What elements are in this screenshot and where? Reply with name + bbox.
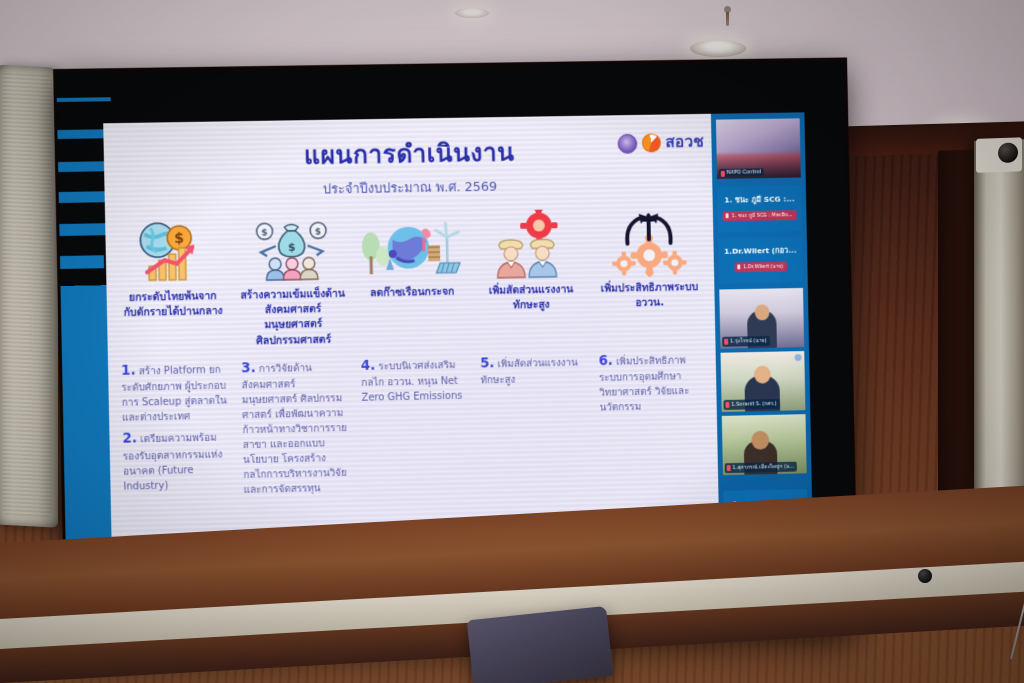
pillar-column-4: 5. เพิ่มสัดส่วนแรงงานทักษะสูง xyxy=(473,351,595,514)
fire-sprinkler-icon xyxy=(724,6,731,13)
pillar-column-3: 4. ระบบนิเวศส่งเสริมกลไก อววน. หนุน Net … xyxy=(354,354,476,517)
money-bag-people-icon: $ $ $ xyxy=(253,217,332,284)
garuda-emblem-icon xyxy=(617,133,637,153)
item-text: สร้าง Platform ยกระดับศักยภาพ ผู้ประกอบก… xyxy=(121,365,227,424)
pillar-heading-3: ลดก๊าซเรือนกระจก xyxy=(352,284,472,347)
svg-text:$: $ xyxy=(175,231,185,247)
gears-upgrade-icon xyxy=(610,209,688,278)
pillar-heading-2: สร้างความเข้มแข็งด้าน สังคมศาสตร์ มนุษยศ… xyxy=(233,287,354,350)
desk-microphone xyxy=(918,569,932,583)
pillar-heading-row: ยกระดับไทยพ้นจาก กับดักรายได้ปานกลาง สร้… xyxy=(113,280,710,352)
svg-text:$: $ xyxy=(315,227,321,237)
participant-badge: 1.Soranit S. (กสว.) xyxy=(723,399,779,410)
item-text: เตรียมความพร้อม รองรับอุตสาหกรรมแห่งอนาค… xyxy=(123,433,223,492)
globe-dollar-growth-icon: $ xyxy=(134,219,209,286)
item-text: เพิ่มสัดส่วนแรงงานทักษะสูง xyxy=(480,358,578,387)
participant-badge: 1.Dr.Wilert (นาย) xyxy=(734,261,787,272)
item-text: การวิจัยด้านสังคมศาสตร์ มนุษยศาสตร์ ศิลป… xyxy=(242,363,347,496)
list-item: 4. ระบบนิเวศส่งเสริมกลไก อววน. หนุน Net … xyxy=(361,354,467,406)
list-item: 2. เตรียมความพร้อม รองรับอุตสาหกรรมแห่งอ… xyxy=(122,427,230,494)
green-earth-renewable-icon xyxy=(356,215,466,283)
pillar-heading-1: ยกระดับไทยพ้นจาก กับดักรายได้ปานกลาง xyxy=(113,289,234,352)
ceiling-light-1 xyxy=(690,40,746,57)
nxpo-swirl-icon xyxy=(642,133,661,152)
pillar-heading-4: เพิ่มสัดส่วนแรงงาน ทักษะสูง xyxy=(472,282,592,345)
participant-badge: 1.สุภาภรณ์ เมืองใหญ่ฯ (ม... xyxy=(725,462,798,473)
icon-cell-3 xyxy=(351,195,472,283)
list-item: 5. เพิ่มสัดส่วนแรงงานทักษะสูง xyxy=(480,351,586,388)
svg-text:$: $ xyxy=(262,228,268,238)
icon-cell-1: $ xyxy=(111,199,233,287)
icon-cell-2: $ $ $ xyxy=(231,197,352,285)
item-number: 2. xyxy=(122,431,137,447)
wall-device-knob xyxy=(998,142,1018,163)
participant-tile-active-speaker[interactable]: 1.Soranit S. (กสว.) xyxy=(721,351,806,412)
participant-tile[interactable]: 1.สุภาภรณ์ เมืองใหญ่ฯ (ม... xyxy=(722,414,807,475)
participant-tile[interactable]: 1. ชนะ ภูมี SCG :... 1. ชนะ ภูมี SCG : M… xyxy=(717,185,802,232)
participant-badge: 1.รุ่งโรจน์ (นาย) xyxy=(722,336,770,347)
item-text: ระบบนิเวศส่งเสริมกลไก อววน. หนุน Net Zer… xyxy=(361,360,462,404)
ceiling-light-3 xyxy=(455,8,489,18)
organization-logo: สอวช xyxy=(617,130,704,156)
pillar-column-1: 1. สร้าง Platform ยกระดับศักยภาพ ผู้ประก… xyxy=(114,359,237,523)
skilled-workers-gear-icon xyxy=(492,209,568,280)
item-number: 5. xyxy=(480,355,495,371)
participant-tile[interactable]: 1.Dr.Wilert (กอว... 1.Dr.Wilert (นาย) xyxy=(718,237,803,284)
wall-speaker xyxy=(0,64,58,527)
list-item: 6. เพิ่มประสิทธิภาพระบบการอุดมศึกษา วิทย… xyxy=(598,349,704,416)
pillar-icon-row: $ $ xyxy=(111,191,709,287)
item-number: 1. xyxy=(121,363,136,379)
laptop-on-desk xyxy=(467,606,614,683)
participant-badge: 1. ชนะ ภูมี SCG : MacBo... xyxy=(723,210,797,221)
list-item: 3. การวิจัยด้านสังคมศาสตร์ มนุษยศาสตร์ ศ… xyxy=(241,356,350,498)
pillar-column-5: 6. เพิ่มประสิทธิภาพระบบการอุดมศึกษา วิทย… xyxy=(592,349,713,512)
brand-text: สอวช xyxy=(665,130,704,155)
list-item: 1. สร้าง Platform ยกระดับศักยภาพ ผู้ประก… xyxy=(121,359,229,426)
icon-cell-5 xyxy=(588,191,708,278)
meeting-room-scene: แผนการดำเนินงาน ประจำปีงบประมาณ พ.ศ. 256… xyxy=(0,0,1024,683)
svg-text:$: $ xyxy=(288,241,296,254)
participant-badge: NXPO Control xyxy=(719,168,764,177)
pillar-column-2: 3. การวิจัยด้านสังคมศาสตร์ มนุษยศาสตร์ ศ… xyxy=(234,356,357,520)
item-number: 6. xyxy=(599,353,614,369)
participant-tile[interactable]: NXPO Control xyxy=(716,118,801,179)
item-text: เพิ่มประสิทธิภาพระบบการอุดมศึกษา วิทยาศา… xyxy=(599,355,690,413)
item-number: 3. xyxy=(241,360,256,376)
item-number: 4. xyxy=(361,358,376,374)
participant-tile[interactable]: 1.รุ่งโรจน์ (นาย) xyxy=(719,288,804,349)
icon-cell-4 xyxy=(470,193,590,280)
pillar-body-row: 1. สร้าง Platform ยกระดับศักยภาพ ผู้ประก… xyxy=(114,349,713,523)
pillar-heading-5: เพิ่มประสิทธิภาพระบบ อววน. xyxy=(590,280,709,342)
wall-device xyxy=(976,137,1022,173)
